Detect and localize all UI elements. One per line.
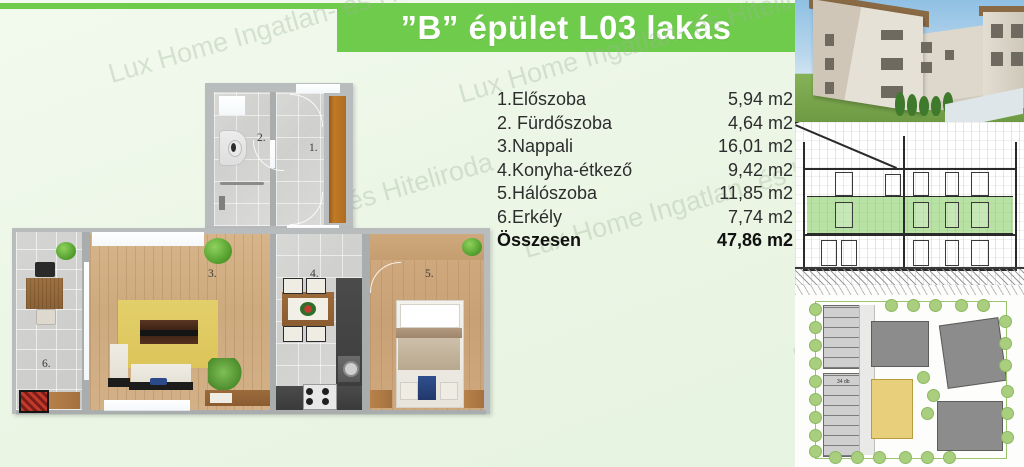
room-name: 6.Erkély [497,206,562,230]
dining-chair [306,326,326,342]
site-tree [929,299,942,312]
render-window [921,62,932,73]
bath-hall-partition [270,168,276,226]
section-floor-line [803,234,1017,236]
room-label-kitchen: 4. [310,268,319,280]
section-wall-right [1015,142,1017,270]
room-name: 3.Nappali [497,135,573,159]
site-tree [851,451,864,464]
site-plot-label: 34 db [837,379,850,385]
site-tree [917,371,930,384]
room-area: 7,74 m2 [728,206,793,230]
site-tree [899,451,912,464]
section-door [913,172,929,196]
room-area: 16,01 m2 [718,135,793,159]
room-area-row: 3.Nappali 16,01 m2 [497,135,793,159]
render-window [825,34,834,46]
site-tree [955,299,968,312]
bath-cabinet [219,96,245,115]
site-tree [999,315,1012,328]
render-tree [919,96,929,116]
site-tree [1001,407,1014,420]
total-label: Összesen [497,229,581,253]
room-area-row: 5.Hálószoba 11,85 m2 [497,182,793,206]
site-tree [927,389,940,402]
room-label-bedroom: 5. [425,268,434,280]
plant-icon [208,358,242,390]
render-window [825,82,834,94]
render-tree [895,92,905,116]
render-window [991,24,1003,38]
tv-screen [140,330,198,336]
cushion [150,378,167,385]
total-area: 47,86 m2 [717,229,793,253]
shower-rail-icon [220,182,264,185]
dining-chair [283,278,303,294]
bath-hall-partition [270,92,276,140]
balcony-wood-mat [45,392,80,409]
room-area: 5,94 m2 [728,88,793,112]
render-window [1011,52,1023,66]
toilet-icon [231,143,236,152]
kitchen-bedroom-wall [362,234,370,410]
bath-fixture [219,196,225,210]
dining-chair [283,326,303,342]
section-door [913,240,929,266]
total-area-row: Összesen 47,86 m2 [497,229,793,253]
section-door [945,202,959,228]
site-tree [809,429,822,442]
room-label-living: 3. [208,268,217,280]
section-door [971,240,989,266]
balcony-table [26,278,63,309]
room-area-row: 4.Konyha-étkező 9,42 m2 [497,159,793,183]
render-tree [907,94,917,116]
section-floor-line [803,168,1017,170]
presentation-slide: ”B” épület L03 lakás Lux Home Ingatlan- … [0,0,1024,467]
site-road [795,285,1024,295]
plant-icon [462,238,482,256]
bathroom-door-leaf [270,140,275,168]
section-door [841,240,857,266]
bed-headboard [396,328,462,338]
nightstand [400,382,418,400]
section-door [913,202,929,228]
room-name: 5.Hálószoba [497,182,597,206]
section-wall-left [803,142,805,270]
burner-icon [306,388,313,395]
balcony-chair [35,262,55,277]
render-window [881,58,903,70]
section-door [821,240,837,266]
site-tree [885,299,898,312]
site-tree [809,339,822,352]
render-window [921,42,932,53]
section-ground-hatch [795,267,1024,285]
site-tree [999,337,1012,350]
render-window [991,52,1003,66]
site-tree [809,411,822,424]
pillow [400,304,460,328]
upper-threshold-top [296,84,340,93]
site-tree [873,451,886,464]
plan-shadow [16,410,486,415]
nightstand [440,382,458,400]
room-area-list: 1.Előszoba 5,94 m2 2. Fürdőszoba 4,64 m2… [497,88,793,253]
site-tree [1001,431,1014,444]
site-tree [809,303,822,316]
room-area-row: 6.Erkély 7,74 m2 [497,206,793,230]
bed-runner [418,376,436,400]
room-label-balcony: 6. [42,358,51,370]
burner-icon [322,398,329,405]
render-window [881,30,903,40]
section-wall-mid [903,136,905,270]
console-drawer [210,393,232,403]
room-area: 11,85 m2 [719,182,793,206]
site-tree [977,299,990,312]
site-tree [943,451,956,464]
dining-chair [306,278,326,294]
site-tree [809,375,822,388]
render-window [1011,24,1023,38]
right-image-column: 34 db [795,0,1024,467]
site-tree [829,451,842,464]
room-area: 9,42 m2 [728,159,793,183]
section-door [885,174,901,196]
bedroom-mat [464,390,484,408]
site-tree [921,451,934,464]
site-tree [999,359,1012,372]
render-building-main [813,0,923,113]
burner-icon [322,388,329,395]
site-tree [907,299,920,312]
room-area-row: 1.Előszoba 5,94 m2 [497,88,793,112]
section-door [835,202,853,228]
building-section-drawing [795,122,1024,285]
site-tree [809,321,822,334]
room-area: 4,64 m2 [728,112,793,136]
render-window [945,50,954,60]
plant-icon [204,238,232,264]
site-tree [809,357,822,370]
site-tree [1001,385,1014,398]
room-name: 4.Konyha-étkező [497,159,632,183]
floor-plan: 2. 1. 6. 3. [0,0,500,467]
render-tree [931,96,941,116]
section-door [971,202,989,228]
section-door [971,172,989,196]
armchair-base [108,378,130,387]
section-door [835,172,853,196]
plant-icon [56,242,76,260]
balcony-door-glass [84,262,89,380]
room-label-hall: 1. [309,142,318,154]
flower-icon [300,302,316,316]
render-window [825,58,834,70]
site-tree [809,393,822,406]
room-area-row: 2. Fürdőszoba 4,64 m2 [497,112,793,136]
entrance-door [329,96,346,223]
section-door [945,240,959,266]
building-render-image [795,0,1024,122]
site-tree [809,445,822,458]
site-tree [921,407,934,420]
room-label-bath: 2. [257,132,266,144]
bedroom-mat [370,390,392,408]
site-plan-drawing: 34 db [795,285,1024,467]
balcony-chair [36,309,56,325]
washer-door-icon [343,361,359,377]
burner-icon [306,398,313,405]
room-name: 2. Fürdőszoba [497,112,612,136]
section-door [945,172,959,196]
blanket [398,338,460,370]
room-name: 1.Előszoba [497,88,586,112]
living-window [92,232,204,246]
